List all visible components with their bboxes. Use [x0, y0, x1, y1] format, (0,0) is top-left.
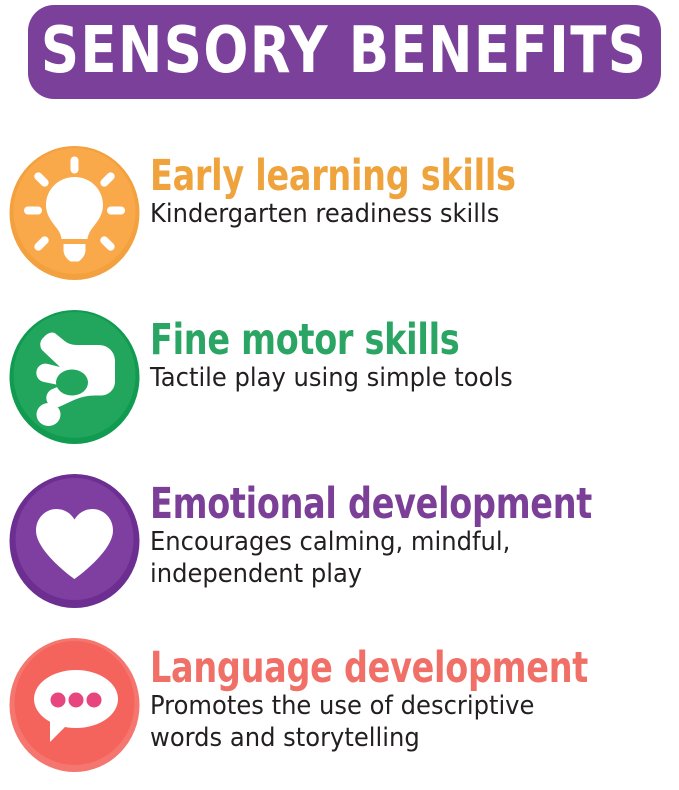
benefit-description-line: independent play — [150, 559, 602, 591]
benefit-heading: Emotional development — [150, 484, 592, 526]
benefit-heading: Early learning skills — [150, 156, 516, 198]
benefit-description-line: Promotes the use of descriptive — [150, 691, 597, 723]
heart-icon — [8, 473, 141, 609]
page-title: SENSORY BENEFITS — [41, 19, 648, 85]
pinching-hand-icon — [8, 309, 141, 445]
icon-container-fine-motor-skills — [0, 309, 150, 449]
header-banner: SENSORY BENEFITS — [28, 5, 661, 99]
text-container-language-development: Language development Promotes the use of… — [150, 637, 629, 754]
lightbulb-icon — [8, 145, 141, 281]
benefit-description-line: Tactile play using simple tools — [150, 363, 513, 395]
benefit-row-early-learning-skills: Early learning skills Kindergarten readi… — [0, 145, 679, 285]
text-container-fine-motor-skills: Fine motor skills Tactile play using sim… — [150, 309, 540, 395]
benefit-heading: Language development — [150, 648, 588, 690]
benefit-description-line: words and storytelling — [150, 723, 597, 755]
icon-container-language-development — [0, 637, 150, 777]
benefit-row-fine-motor-skills: Fine motor skills Tactile play using sim… — [0, 309, 679, 449]
benefit-description: Promotes the use of descriptive words an… — [150, 691, 597, 754]
benefit-description: Tactile play using simple tools — [150, 363, 513, 395]
text-container-emotional-development: Emotional development Encourages calming… — [150, 473, 633, 590]
text-container-early-learning-skills: Early learning skills Kindergarten readi… — [150, 145, 551, 231]
benefit-description: Kindergarten readiness skills — [150, 199, 524, 231]
benefit-description-line: Encourages calming, mindful, — [150, 527, 602, 559]
icon-container-emotional-development — [0, 473, 150, 613]
benefit-description: Encourages calming, mindful, independent… — [150, 527, 602, 590]
benefit-row-emotional-development: Emotional development Encourages calming… — [0, 473, 679, 613]
speech-bubble-icon — [8, 637, 141, 773]
benefit-heading: Fine motor skills — [150, 320, 505, 362]
icon-container-early-learning-skills — [0, 145, 150, 285]
benefit-row-language-development: Language development Promotes the use of… — [0, 637, 679, 777]
benefit-description-line: Kindergarten readiness skills — [150, 199, 524, 231]
